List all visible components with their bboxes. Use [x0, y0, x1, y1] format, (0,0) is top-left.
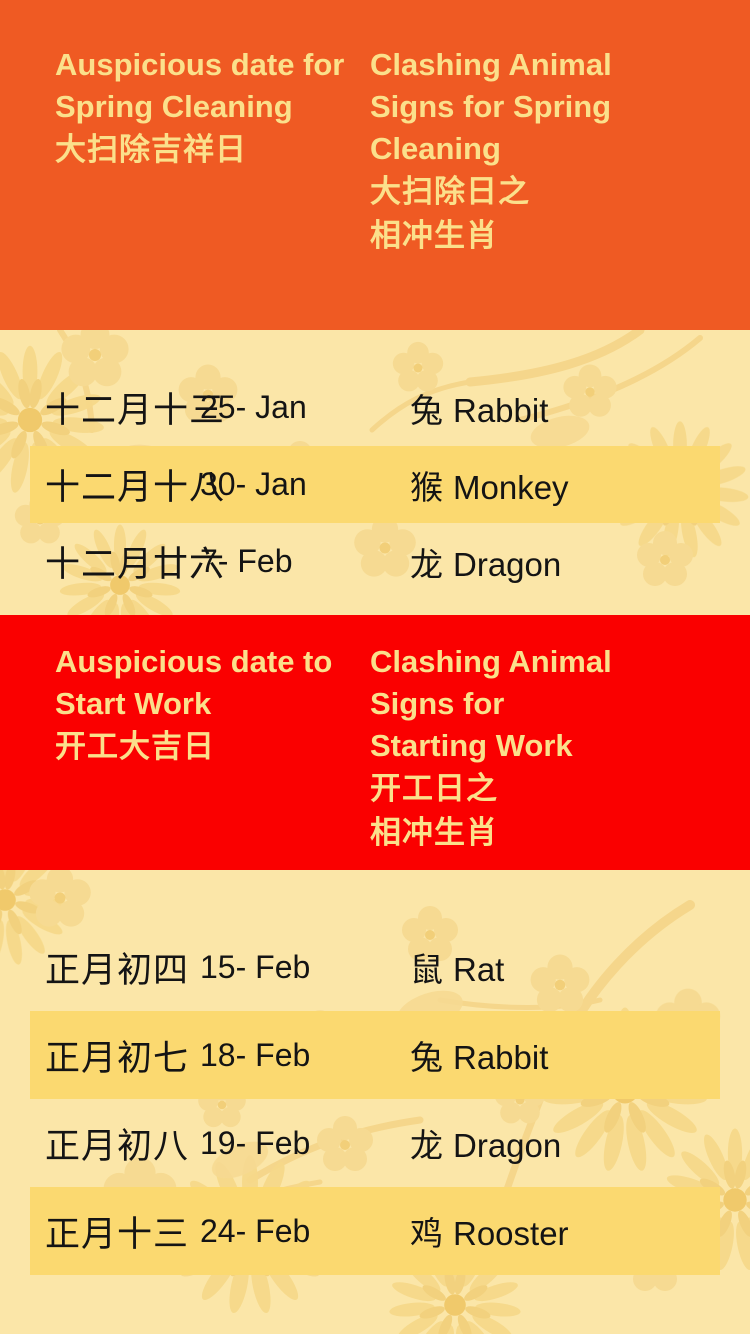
heading-auspicious-date-start-work-zh: 开工大吉日	[55, 725, 370, 769]
cell-lunar-date: 十二月十八	[0, 459, 200, 510]
cell-gregorian-date: 19- Feb	[200, 1125, 410, 1162]
zodiac-label: Rooster	[453, 1215, 569, 1252]
poster-root: Auspicious date for Spring Cleaning 大扫除吉…	[0, 0, 750, 1334]
zodiac-glyph: 龙	[410, 1127, 443, 1164]
cell-clashing-zodiac: 龙Dragon	[410, 538, 705, 586]
heading-clashing-signs-start-work-zh: 开工日之 相冲生肖	[370, 767, 750, 855]
cell-lunar-date: 正月初七	[0, 1030, 200, 1081]
table-row: 正月初八 19- Feb 龙Dragon	[0, 1099, 750, 1187]
cell-lunar-date: 正月十三	[0, 1206, 200, 1257]
table-row: 十二月十三 25- Jan 兔Rabbit	[0, 369, 750, 446]
zodiac-label: Dragon	[453, 1127, 561, 1164]
section-header-start-work: Auspicious date to Start Work 开工大吉日 Clas…	[0, 615, 750, 870]
cell-clashing-zodiac: 龙Dragon	[410, 1119, 705, 1167]
zodiac-label: Monkey	[453, 469, 569, 506]
zodiac-glyph: 鼠	[410, 951, 443, 988]
cell-clashing-zodiac: 猴Monkey	[410, 461, 705, 509]
zodiac-label: Dragon	[453, 546, 561, 583]
table-row: 十二月十八 30- Jan 猴Monkey	[0, 446, 750, 523]
cell-gregorian-date: 15- Feb	[200, 949, 410, 986]
zodiac-label: Rabbit	[453, 1039, 548, 1076]
cell-gregorian-date: 24- Feb	[200, 1213, 410, 1250]
zodiac-glyph: 鸡	[410, 1215, 443, 1252]
heading-auspicious-date-spring-cleaning-zh: 大扫除吉祥日	[55, 128, 370, 172]
table-row: 正月初七 18- Feb 兔Rabbit	[0, 1011, 750, 1099]
cell-gregorian-date: 30- Jan	[200, 466, 410, 503]
header-left-column-spring-cleaning: Auspicious date for Spring Cleaning 大扫除吉…	[0, 44, 370, 330]
section-header-spring-cleaning: Auspicious date for Spring Cleaning 大扫除吉…	[0, 0, 750, 330]
table-row: 正月初四 15- Feb 鼠Rat	[0, 923, 750, 1011]
cell-clashing-zodiac: 鼠Rat	[410, 943, 705, 991]
header-right-column-spring-cleaning: Clashing Animal Signs for Spring Cleanin…	[370, 44, 750, 330]
cell-clashing-zodiac: 兔Rabbit	[410, 1031, 705, 1079]
heading-auspicious-date-start-work-en: Auspicious date to Start Work	[55, 641, 370, 725]
heading-clashing-signs-spring-cleaning-en: Clashing Animal Signs for Spring Cleanin…	[370, 44, 750, 170]
cell-lunar-date: 正月初八	[0, 1118, 200, 1169]
heading-clashing-signs-spring-cleaning-zh: 大扫除日之 相冲生肖	[370, 170, 750, 258]
zodiac-label: Rat	[453, 951, 504, 988]
table-start-work-dates: 正月初四 15- Feb 鼠Rat 正月初七 18- Feb 兔Rabbit 正…	[0, 870, 750, 1334]
cell-clashing-zodiac: 兔Rabbit	[410, 384, 705, 432]
zodiac-label: Rabbit	[453, 392, 548, 429]
zodiac-glyph: 龙	[410, 546, 443, 583]
table-row: 十二月廿六 7- Feb 龙Dragon	[0, 523, 750, 600]
cell-lunar-date: 十二月十三	[0, 382, 200, 433]
cell-lunar-date: 十二月廿六	[0, 536, 200, 587]
cell-gregorian-date: 7- Feb	[200, 543, 410, 580]
heading-auspicious-date-spring-cleaning-en: Auspicious date for Spring Cleaning	[55, 44, 370, 128]
zodiac-glyph: 猴	[410, 469, 443, 506]
heading-clashing-signs-start-work-en: Clashing Animal Signs for Starting Work	[370, 641, 750, 767]
cell-lunar-date: 正月初四	[0, 942, 200, 993]
header-left-column-start-work: Auspicious date to Start Work 开工大吉日	[0, 641, 370, 870]
cell-clashing-zodiac: 鸡Rooster	[410, 1207, 705, 1255]
cell-gregorian-date: 25- Jan	[200, 389, 410, 426]
table-spring-cleaning-dates: 十二月十三 25- Jan 兔Rabbit 十二月十八 30- Jan 猴Mon…	[0, 330, 750, 654]
cell-gregorian-date: 18- Feb	[200, 1037, 410, 1074]
zodiac-glyph: 兔	[410, 392, 443, 429]
header-right-column-start-work: Clashing Animal Signs for Starting Work …	[370, 641, 750, 870]
zodiac-glyph: 兔	[410, 1039, 443, 1076]
table-row: 正月十三 24- Feb 鸡Rooster	[0, 1187, 750, 1275]
